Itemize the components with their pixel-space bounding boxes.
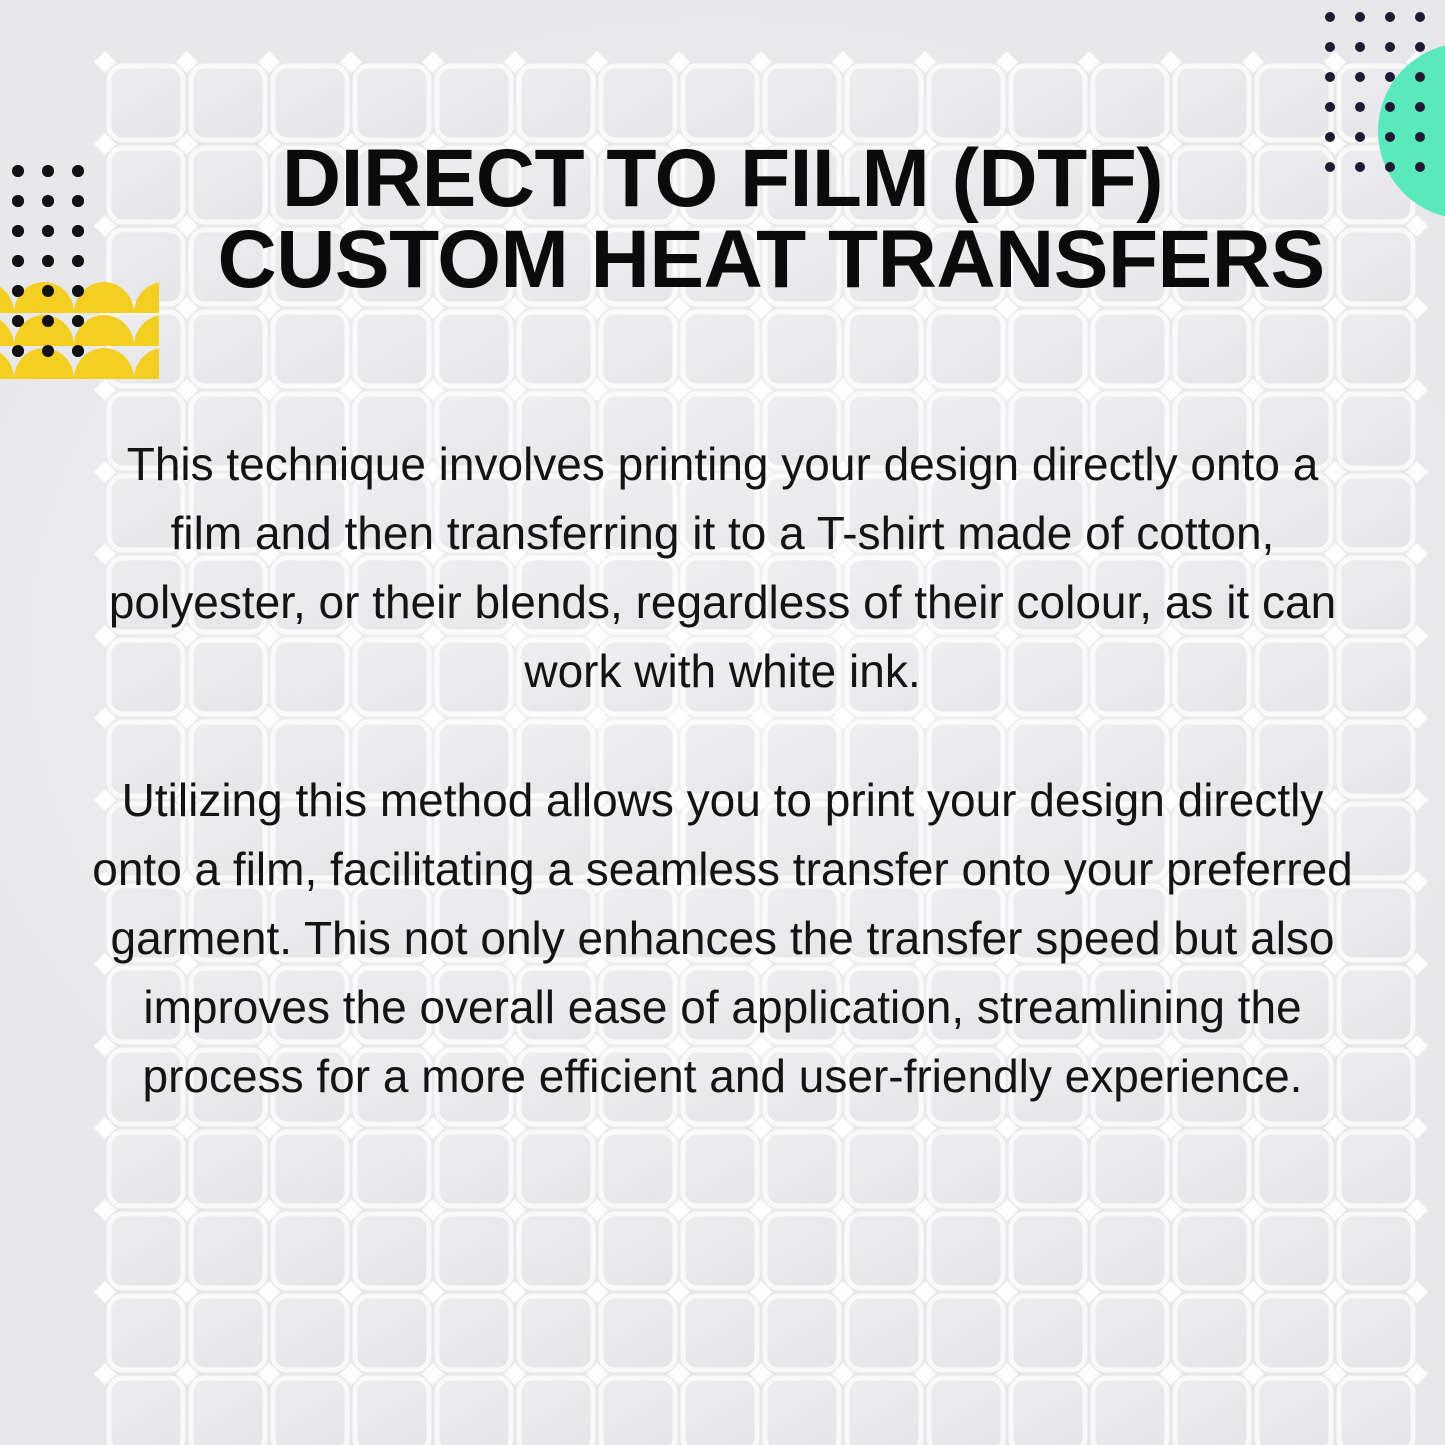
page-title: DIRECT TO FILM (DTF) CUSTOM HEAT TRANSFE…: [218, 138, 1228, 300]
body-copy: This technique involves printing your de…: [88, 430, 1358, 1111]
paragraph-1: This technique involves printing your de…: [98, 430, 1348, 706]
title-line-1: DIRECT TO FILM (DTF): [218, 138, 1228, 219]
poster-content: DIRECT TO FILM (DTF) CUSTOM HEAT TRANSFE…: [0, 0, 1445, 1445]
poster-canvas: DIRECT TO FILM (DTF) CUSTOM HEAT TRANSFE…: [0, 0, 1445, 1445]
paragraph-2: Utilizing this method allows you to prin…: [88, 766, 1358, 1111]
title-line-2: CUSTOM HEAT TRANSFERS: [218, 219, 1228, 300]
